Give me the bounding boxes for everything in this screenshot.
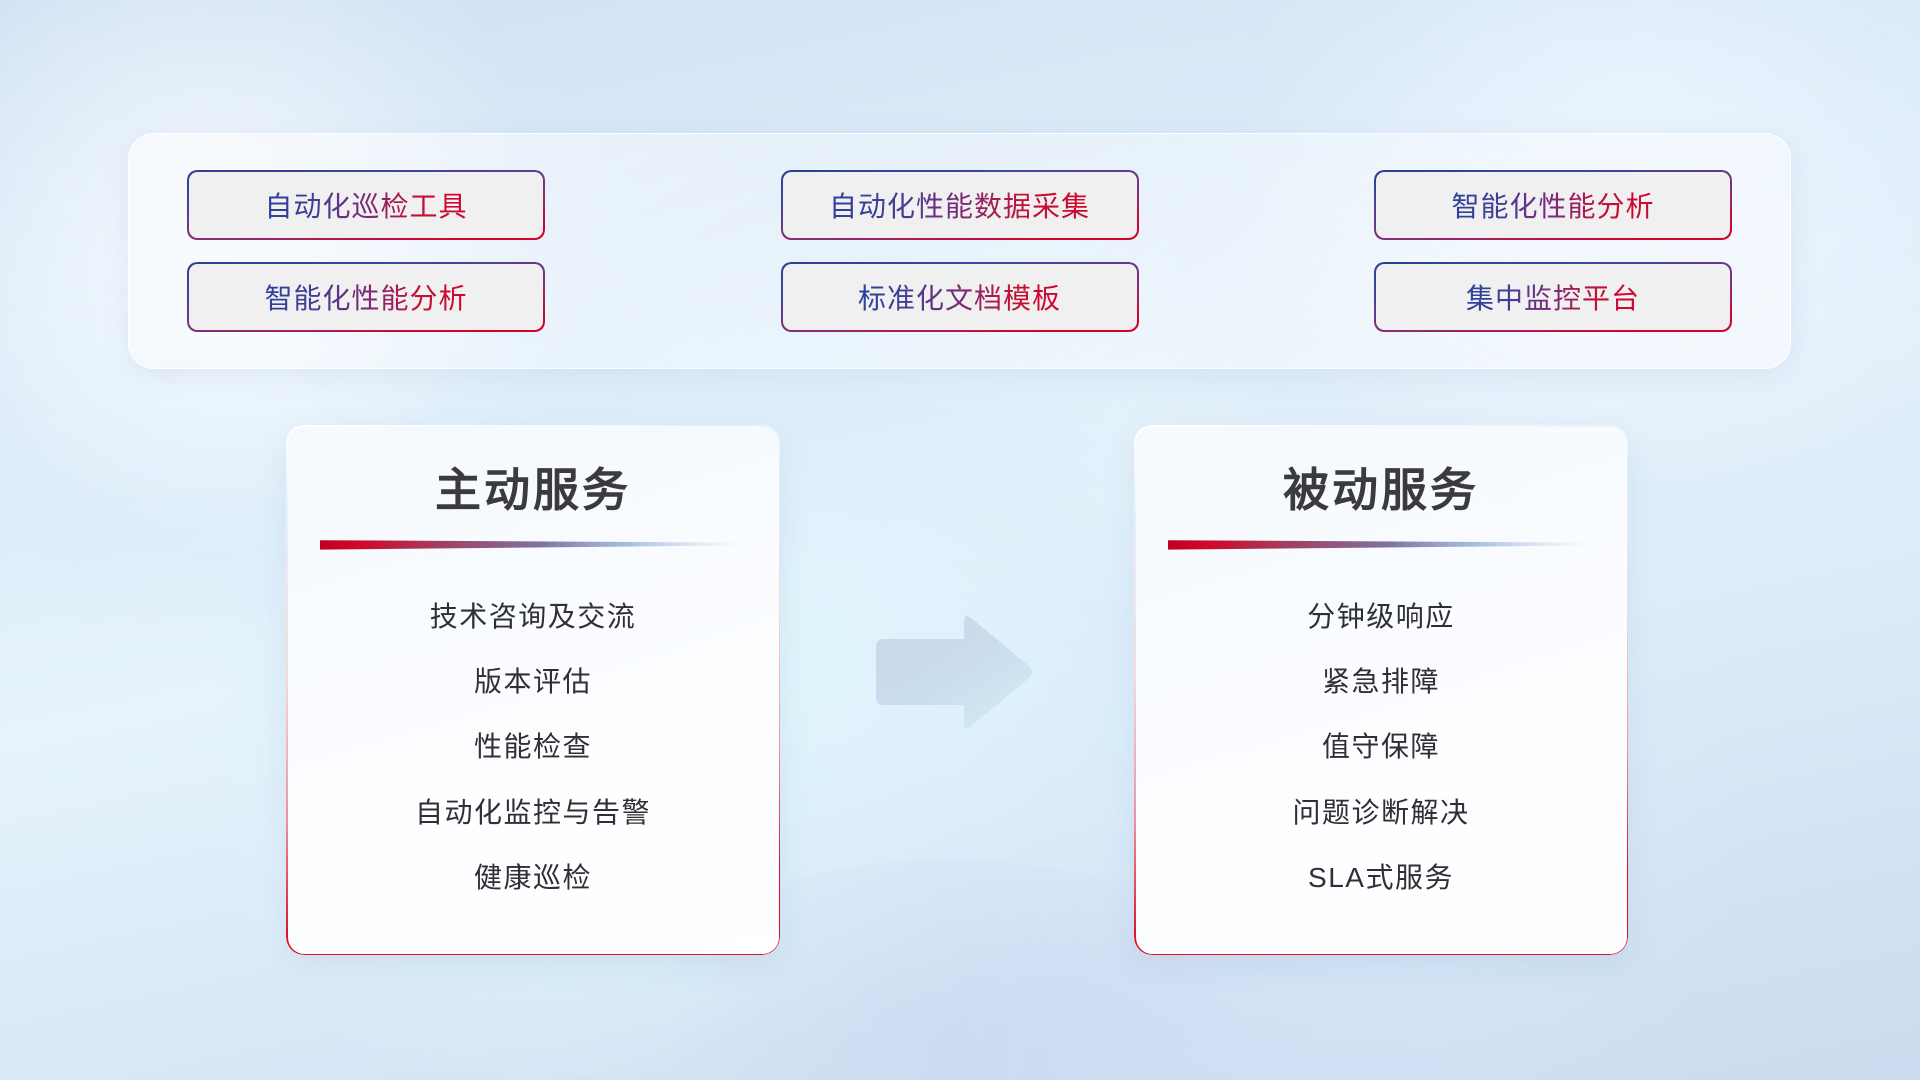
capability-chip-automated-inspection-tool[interactable]: 自动化巡检工具 bbox=[187, 170, 545, 240]
arrow-right-icon bbox=[868, 613, 1038, 733]
capability-chip-intelligent-performance-analysis-bottom[interactable]: 智能化性能分析 bbox=[187, 262, 545, 332]
capability-chip-label: 智能化性能分析 bbox=[264, 277, 467, 317]
service-card-passive-body: 被动服务 分钟级响应 紧急排障 bbox=[1134, 425, 1628, 955]
capability-row-1: 自动化巡检工具 自动化性能数据采集 智能化性能分析 bbox=[187, 170, 1732, 240]
service-card-active-body: 主动服务 技术咨询及交流 版本评估 bbox=[286, 425, 780, 955]
capability-chip-centralized-monitoring-platform[interactable]: 集中监控平台 bbox=[1374, 262, 1732, 332]
service-card-passive-title: 被动服务 bbox=[1283, 463, 1479, 518]
list-item: 自动化监控与告警 bbox=[415, 795, 651, 831]
capability-row-2: 智能化性能分析 标准化文档模板 集中监控平台 bbox=[187, 262, 1732, 332]
list-item: SLA式服务 bbox=[1308, 860, 1454, 896]
list-item: 紧急排障 bbox=[1322, 664, 1440, 700]
capability-chip-label: 智能化性能分析 bbox=[1451, 185, 1654, 225]
capability-chip-automated-performance-data-collection[interactable]: 自动化性能数据采集 bbox=[781, 170, 1139, 240]
capability-chip-standardized-document-template[interactable]: 标准化文档模板 bbox=[781, 262, 1139, 332]
list-item: 问题诊断解决 bbox=[1292, 795, 1469, 831]
capability-chip-label: 集中监控平台 bbox=[1466, 277, 1640, 317]
capability-panel: 自动化巡检工具 自动化性能数据采集 智能化性能分析 智能化性能分析 标准化文档模… bbox=[128, 133, 1791, 369]
service-card-active-title: 主动服务 bbox=[435, 463, 631, 518]
slide-canvas: 自动化巡检工具 自动化性能数据采集 智能化性能分析 智能化性能分析 标准化文档模… bbox=[0, 0, 1920, 1080]
capability-chip-intelligent-performance-analysis-top[interactable]: 智能化性能分析 bbox=[1374, 170, 1732, 240]
list-item: 值守保障 bbox=[1322, 729, 1440, 765]
service-card-passive[interactable]: 被动服务 分钟级响应 紧急排障 bbox=[1134, 425, 1628, 955]
capability-chip-label: 自动化性能数据采集 bbox=[829, 185, 1090, 225]
list-item: 健康巡检 bbox=[474, 860, 592, 896]
list-item: 版本评估 bbox=[474, 664, 592, 700]
title-divider-icon bbox=[1168, 538, 1594, 552]
list-item: 分钟级响应 bbox=[1307, 599, 1455, 635]
title-divider-icon bbox=[320, 538, 746, 552]
list-item: 性能检查 bbox=[474, 729, 592, 765]
service-card-active-list: 技术咨询及交流 版本评估 性能检查 自动化监控与告警 健康巡检 bbox=[320, 560, 746, 929]
service-card-passive-list: 分钟级响应 紧急排障 值守保障 问题诊断解决 SLA式服务 bbox=[1168, 560, 1594, 929]
list-item: 技术咨询及交流 bbox=[430, 599, 637, 635]
capability-chip-label: 自动化巡检工具 bbox=[264, 185, 467, 225]
service-card-active[interactable]: 主动服务 技术咨询及交流 版本评估 bbox=[286, 425, 780, 955]
capability-chip-label: 标准化文档模板 bbox=[858, 277, 1061, 317]
